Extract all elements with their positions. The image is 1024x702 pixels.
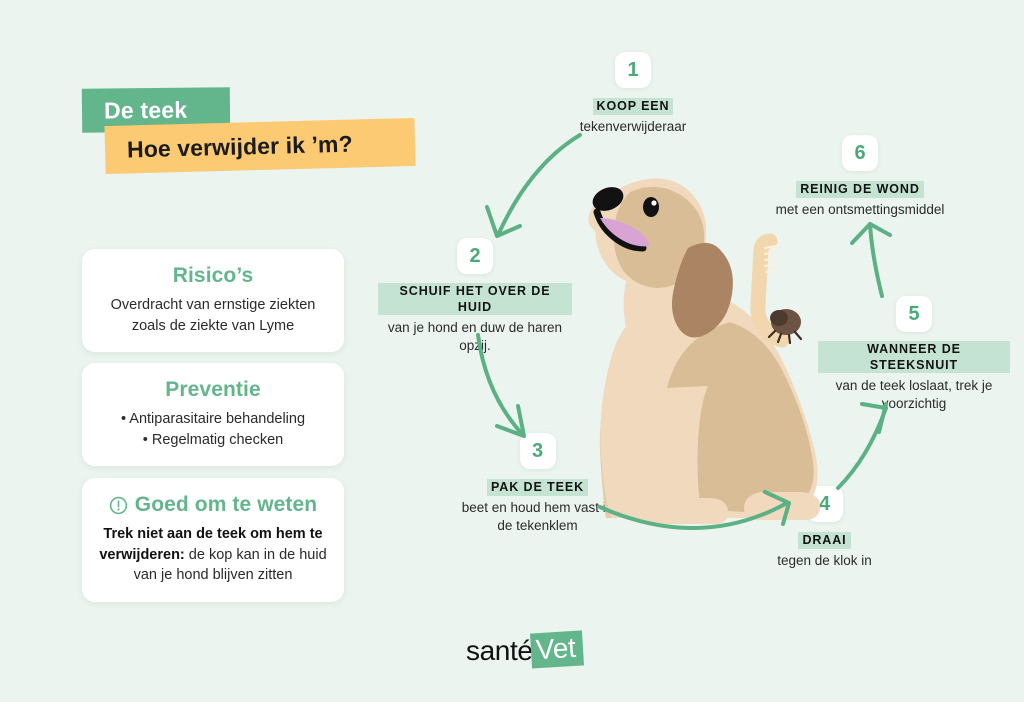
card-good-to-know-title: Goed om te weten — [135, 493, 317, 517]
logo-vet-badge: Vet — [529, 630, 583, 668]
step-2: 2 SCHUIF HET OVER DE HUID van je hond en… — [378, 238, 572, 355]
step-3-subtext: beet en houd hem vast in de tekenklem — [455, 499, 620, 535]
step-1-subtext: tekenverwijderaar — [543, 118, 723, 136]
title-eyebrow-text: De teek — [104, 96, 188, 124]
step-3-number: 3 — [520, 433, 556, 469]
step-5-heading: WANNEER DE STEEKSNUIT — [818, 341, 1010, 373]
step-4-subtext: tegen de klok in — [742, 552, 907, 570]
step-2-subtext: van je hond en duw de haren opzij. — [378, 319, 572, 355]
step-1: 1 KOOP EEN tekenverwijderaar — [543, 52, 723, 136]
card-risks-line-2: zoals de ziekte van Lyme — [98, 316, 328, 337]
card-risks: Risico’s Overdracht van ernstige ziekten… — [82, 249, 344, 352]
title-headline-banner: Hoe verwijder ik ’m? — [104, 118, 415, 174]
step-5: 5 WANNEER DE STEEKSNUIT van de teek losl… — [818, 296, 1010, 413]
warning-circle-icon — [109, 496, 128, 515]
arrow-1-to-2-head — [487, 207, 520, 236]
step-6-heading: REINIG DE WOND — [796, 181, 924, 198]
card-prevention-title: Preventie — [98, 378, 328, 402]
card-good-to-know: Goed om te weten Trek niet aan de teek o… — [82, 478, 344, 602]
step-4-heading: DRAAI — [798, 532, 850, 549]
arrow-4-to-5 — [838, 408, 886, 488]
step-1-heading: KOOP EEN — [593, 98, 674, 115]
step-6: 6 REINIG DE WOND met een ontsmettingsmid… — [757, 135, 963, 219]
title-headline-text: Hoe verwijder ik ’m? — [127, 130, 353, 163]
arrow-5-to-6 — [870, 224, 882, 296]
step-4: 4 DRAAI tegen de klok in — [742, 486, 907, 570]
list-item: Regelmatig checken — [98, 430, 328, 451]
step-3: 3 PAK DE TEEK beet en houd hem vast in d… — [455, 433, 620, 535]
step-6-number: 6 — [842, 135, 878, 171]
step-2-number: 2 — [457, 238, 493, 274]
step-2-heading: SCHUIF HET OVER DE HUID — [378, 283, 572, 315]
arrow-1-to-2 — [498, 135, 580, 235]
card-risks-body: Overdracht van ernstige ziekten zoals de… — [98, 295, 328, 336]
logo-text-sante: santé — [466, 637, 533, 665]
card-good-to-know-body: Trek niet aan de teek om hem te verwijde… — [98, 524, 328, 586]
list-item: Antiparasitaire behandeling — [98, 409, 328, 430]
santevet-logo: santé Vet — [466, 632, 582, 665]
card-prevention-list: Antiparasitaire behandeling Regelmatig c… — [98, 409, 328, 450]
step-3-heading: PAK DE TEEK — [487, 479, 588, 496]
step-5-subtext: van de teek loslaat, trek je voorzichtig — [818, 377, 1010, 413]
card-risks-title: Risico’s — [98, 264, 328, 288]
step-1-number: 1 — [615, 52, 651, 88]
logo-text-vet: Vet — [535, 634, 576, 664]
card-risks-line-1: Overdracht van ernstige ziekten — [98, 295, 328, 316]
arrow-5-to-6-head — [852, 224, 890, 243]
step-4-number: 4 — [807, 486, 843, 522]
infographic-canvas: De teek Hoe verwijder ik ’m? Risico’s Ov… — [0, 0, 1024, 702]
step-6-subtext: met een ontsmettingsmiddel — [757, 201, 963, 219]
card-good-to-know-title-row: Goed om te weten — [98, 493, 328, 517]
card-prevention: Preventie Antiparasitaire behandeling Re… — [82, 363, 344, 466]
step-5-number: 5 — [896, 296, 932, 332]
arrow-2-to-3-head — [497, 406, 524, 436]
tick-remover-tool — [758, 241, 801, 343]
